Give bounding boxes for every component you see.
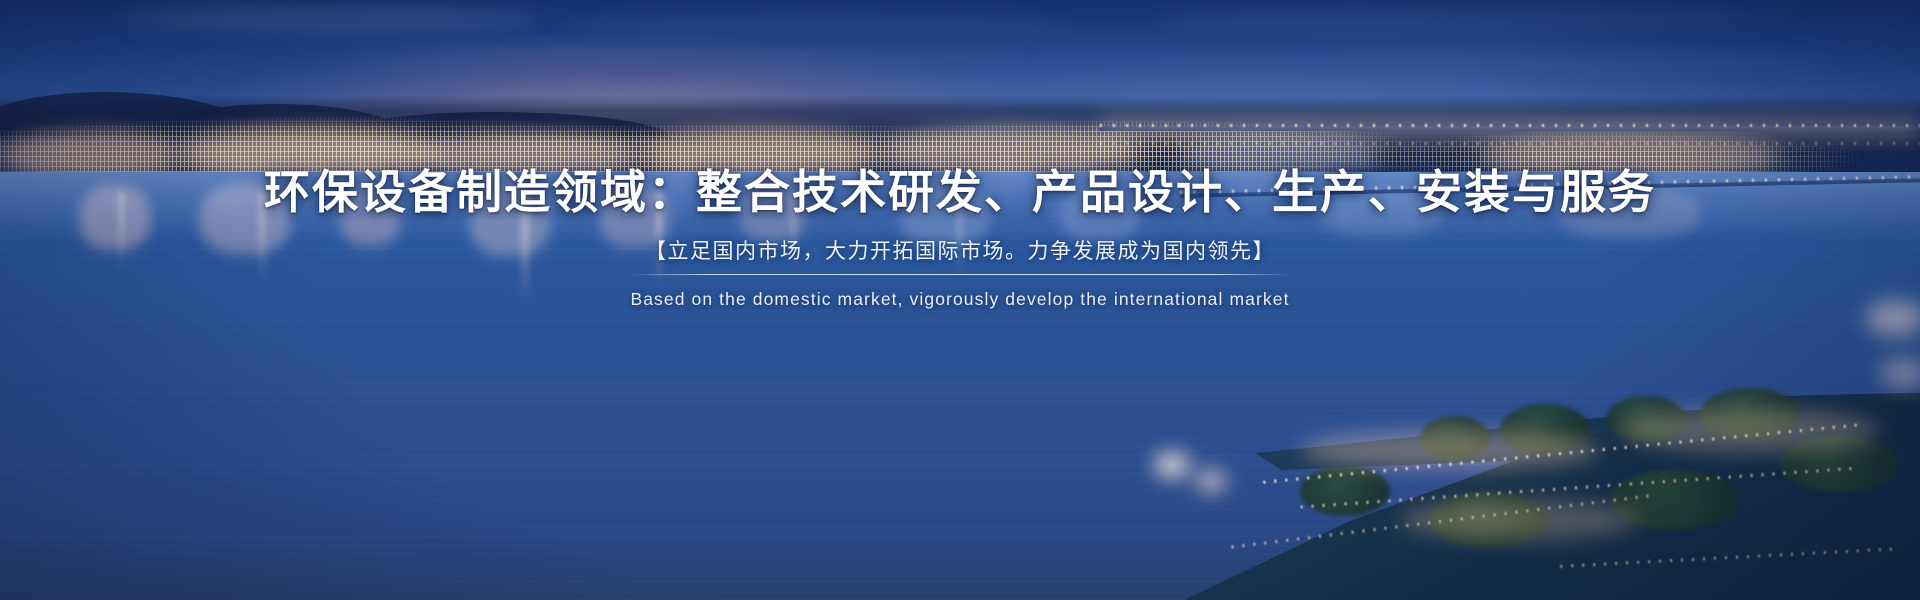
banner-subtitle-chinese: 【立足国内市场，大力开拓国际市场。力争发展成为国内领先】 <box>645 235 1275 265</box>
banner-subtitle-english: Based on the domestic market, vigorously… <box>630 289 1289 310</box>
hero-banner: 环保设备制造领域：整合技术研发、产品设计、生产、安装与服务 【立足国内市场，大力… <box>0 0 1920 600</box>
banner-text-block: 环保设备制造领域：整合技术研发、产品设计、生产、安装与服务 【立足国内市场，大力… <box>0 0 1920 600</box>
banner-headline: 环保设备制造领域：整合技术研发、产品设计、生产、安装与服务 <box>264 165 1656 219</box>
divider-line <box>630 274 1290 275</box>
